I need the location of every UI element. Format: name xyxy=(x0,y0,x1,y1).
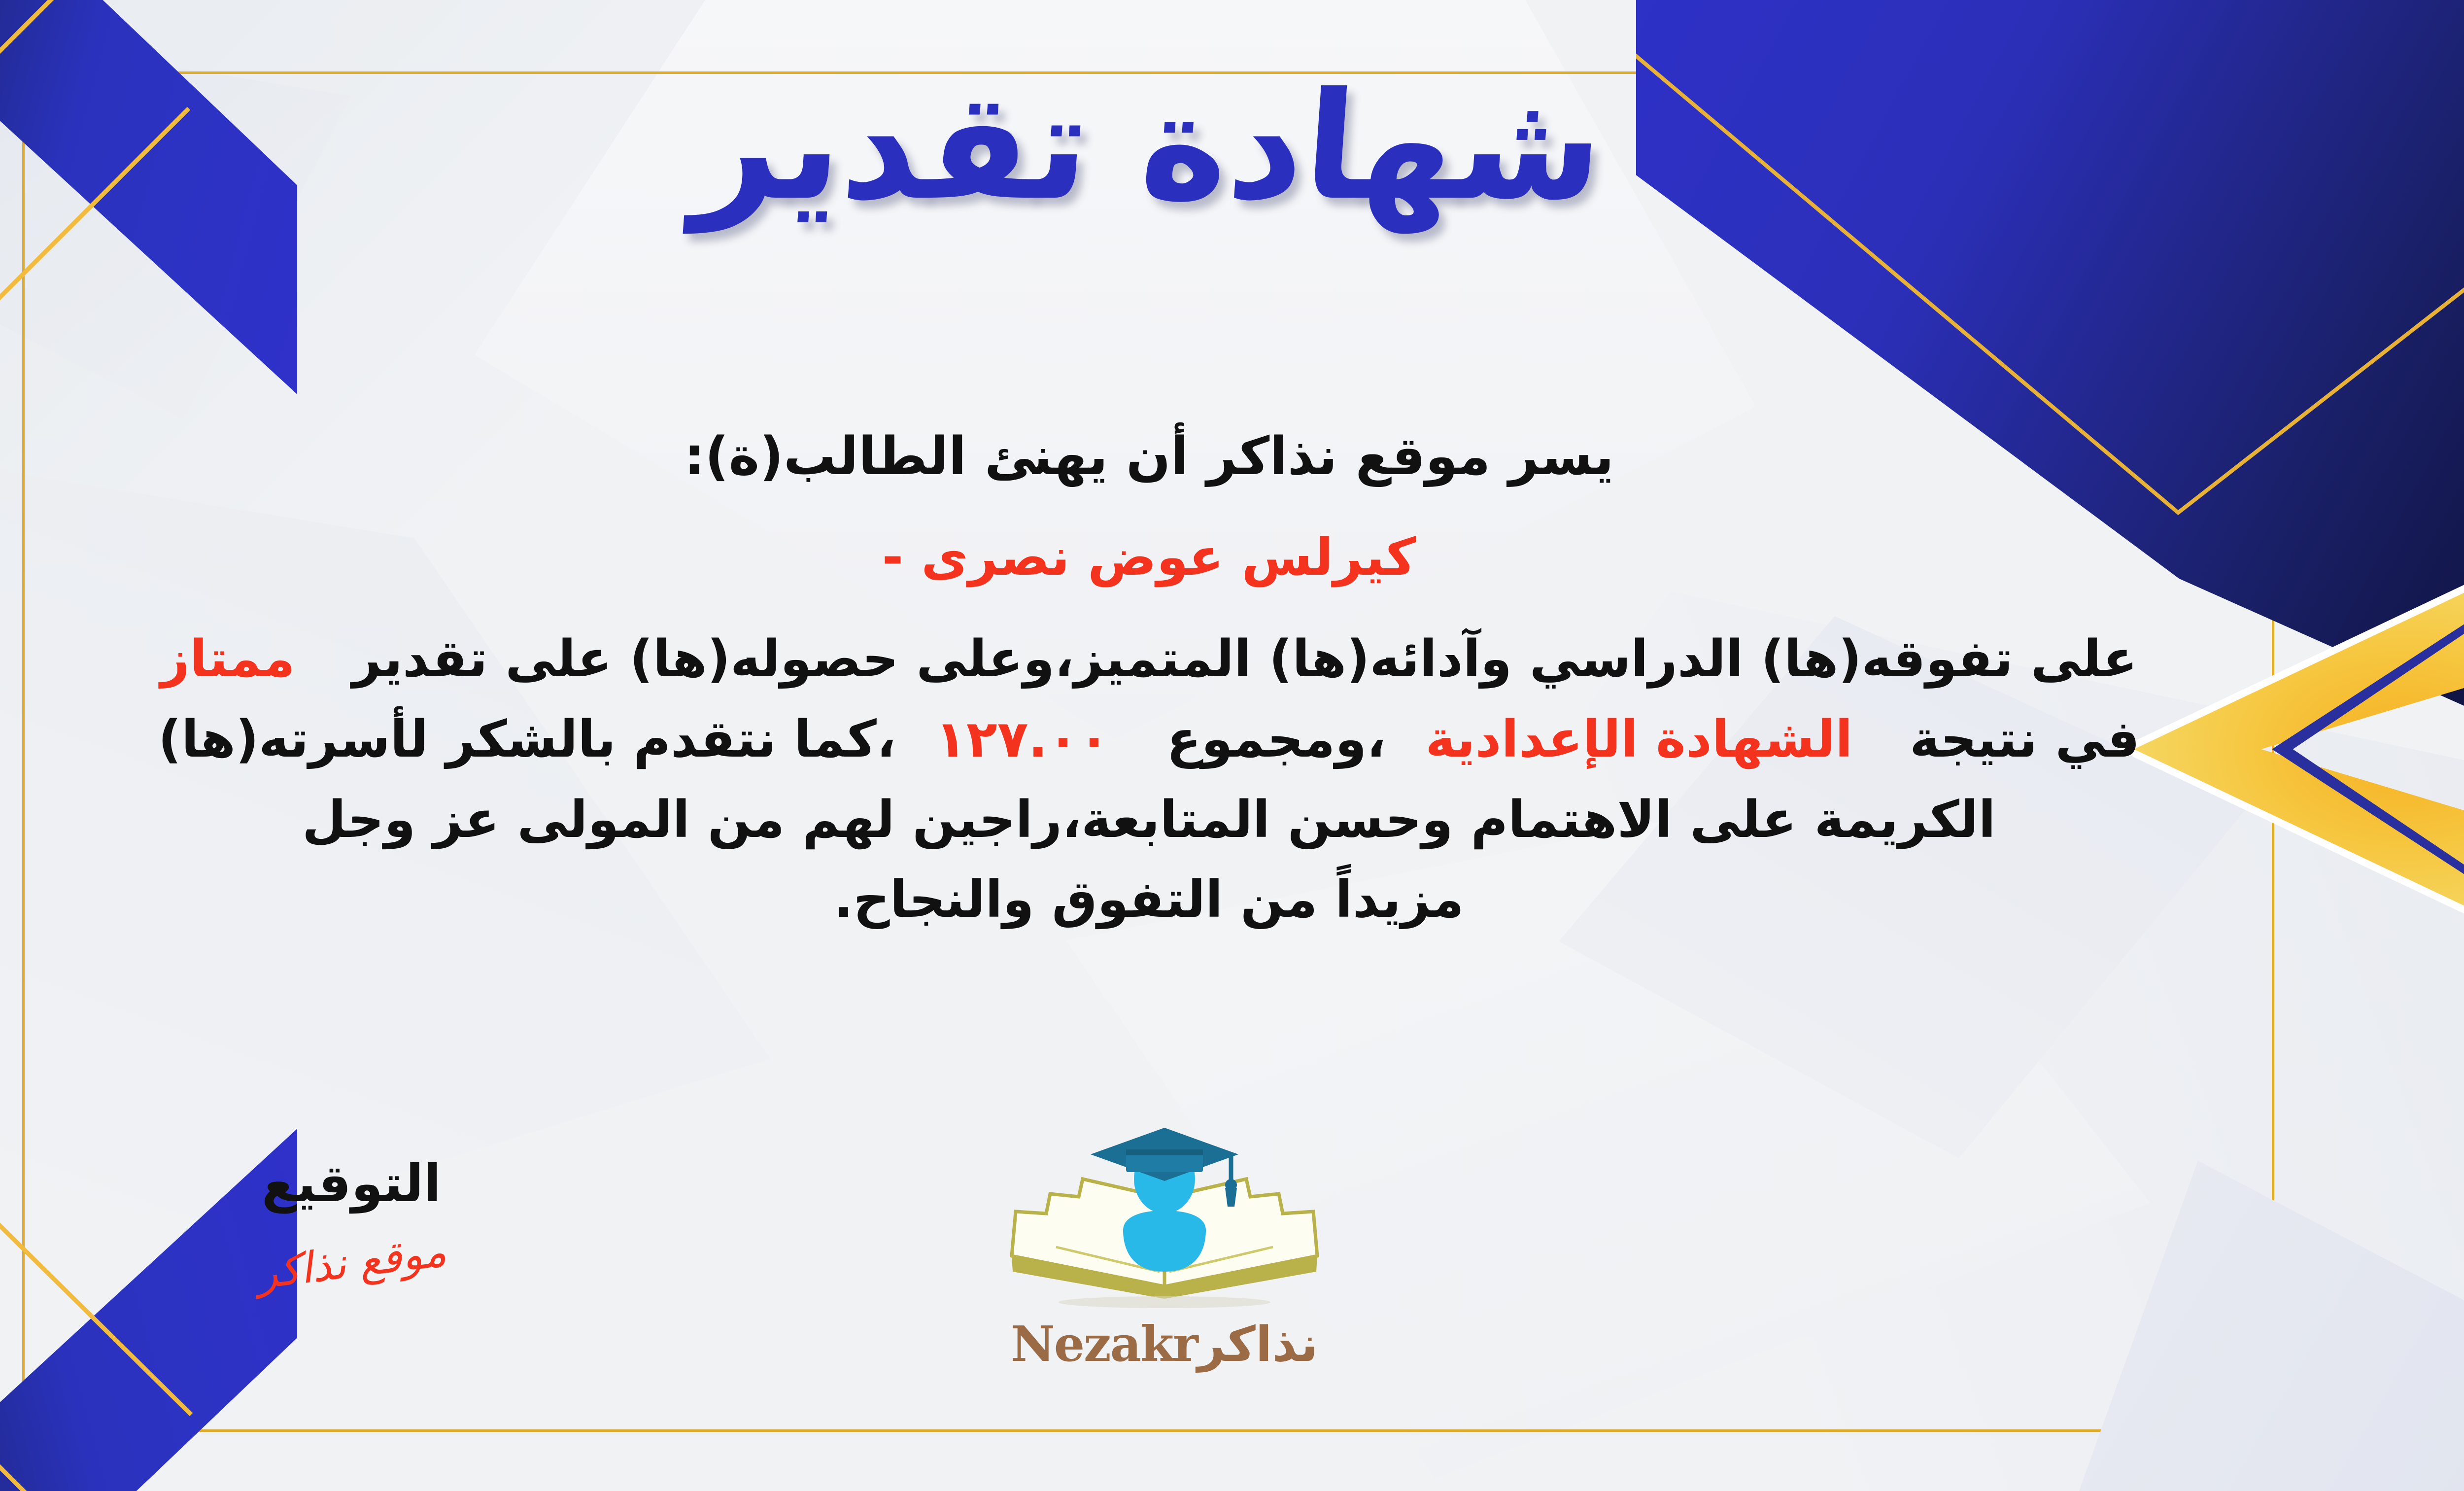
exam-name: الشهادة الإعدادية xyxy=(1425,710,1852,769)
achievement-text-5: الكريمة على الاهتمام وحسن المتابعة،راجين… xyxy=(302,790,1996,849)
logo-mark xyxy=(982,1124,1347,1311)
greeting-line: يسر موقع نذاكر أن يهنئ الطالب(ة): xyxy=(0,414,2301,499)
certificate-canvas: شهادة تقدير يسر موقع نذاكر أن يهنئ الطال… xyxy=(0,0,2464,1491)
achievement-text-1: على تفوقه(ها) الدراسي وآدائه(ها) المتميز… xyxy=(352,629,2137,689)
logo-text-latin: Nezakr xyxy=(1011,1316,1198,1373)
certificate-title: شهادة تقدير xyxy=(0,73,2464,221)
student-name: كيرلس عوض نصرى - xyxy=(0,516,2301,598)
achievement-text-2: في نتيجة xyxy=(1910,710,2140,769)
logo-graphic xyxy=(982,1124,1347,1311)
corner-ornament-bottom-right xyxy=(2020,1161,2464,1491)
logo-text-arabic: نذاكر xyxy=(1198,1317,1318,1373)
achievement-text-3: ،ومجموع xyxy=(1166,710,1386,769)
brand-logo: نذاكرNezakr xyxy=(982,1124,1347,1373)
achievement-text-6: مزيداً من التفوق والنجاح. xyxy=(834,870,1464,929)
signature-mark: موقع نذاكر xyxy=(254,1227,448,1299)
grade-value: ممتاز xyxy=(161,629,295,689)
signature-label: التوقيع xyxy=(179,1153,524,1214)
achievement-paragraph: على تفوقه(ها) الدراسي وآدائه(ها) المتميز… xyxy=(0,619,2301,940)
logo-wordmark: نذاكرNezakr xyxy=(982,1316,1347,1373)
total-score: ١٢٧.٠٠ xyxy=(935,710,1109,769)
certificate-body: يسر موقع نذاكر أن يهنئ الطالب(ة): كيرلس … xyxy=(0,414,2301,940)
achievement-text-4: ،كما نتقدم بالشكر لأسرته(ها) xyxy=(158,710,896,769)
light-wedge-shape xyxy=(2020,1161,2464,1491)
signature-block: التوقيع موقع نذاكر xyxy=(179,1153,524,1287)
